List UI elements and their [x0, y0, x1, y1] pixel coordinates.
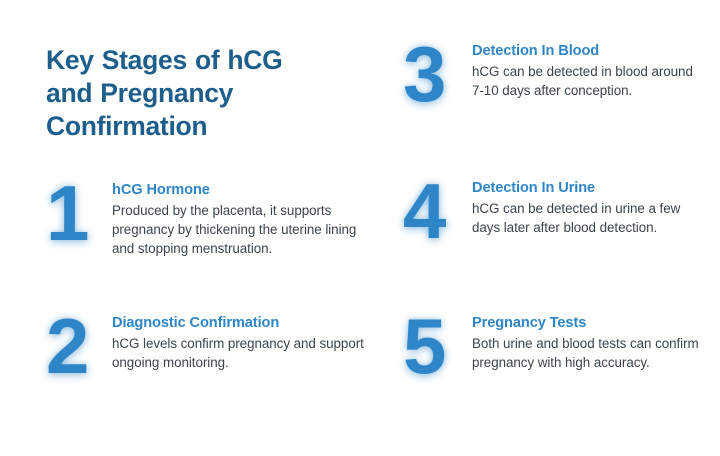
stage-heading-1: hCG Hormone — [112, 181, 378, 199]
stage-body-4: Detection In Urine hCG can be detected i… — [472, 178, 703, 237]
stage-item-4: 4 Detection In Urine hCG can be detected… — [403, 178, 703, 250]
stage-heading-5: Pregnancy Tests — [472, 314, 703, 332]
stage-heading-4: Detection In Urine — [472, 179, 703, 197]
stage-body-1: hCG Hormone Produced by the placenta, it… — [112, 180, 378, 259]
stage-item-1: 1 hCG Hormone Produced by the placenta, … — [46, 180, 378, 259]
stage-body-2: Diagnostic Confirmation hCG levels confi… — [112, 313, 378, 372]
stage-heading-3: Detection In Blood — [472, 42, 703, 60]
page-title-text: Key Stages of hCGand PregnancyConfirmati… — [46, 44, 366, 143]
stage-body-5: Pregnancy Tests Both urine and blood tes… — [472, 313, 703, 372]
stage-item-3: 3 Detection In Blood hCG can be detected… — [403, 41, 703, 113]
stage-number-4: 4 — [403, 172, 472, 250]
stage-item-5: 5 Pregnancy Tests Both urine and blood t… — [403, 313, 703, 385]
stage-body-3: Detection In Blood hCG can be detected i… — [472, 41, 703, 100]
stage-text-1: Produced by the placenta, it supports pr… — [112, 201, 378, 259]
stage-text-4: hCG can be detected in urine a few days … — [472, 199, 703, 237]
stage-text-3: hCG can be detected in blood around 7-10… — [472, 62, 703, 100]
page-title-line-3: Confirmation — [46, 111, 207, 141]
stage-text-2: hCG levels confirm pregnancy and support… — [112, 334, 378, 372]
infographic-canvas: Key Stages of hCGand PregnancyConfirmati… — [0, 0, 720, 456]
stage-number-1: 1 — [46, 174, 112, 252]
stage-text-5: Both urine and blood tests can confirm p… — [472, 334, 703, 372]
stage-number-5: 5 — [403, 307, 472, 385]
stage-number-3: 3 — [403, 35, 472, 113]
stage-item-2: 2 Diagnostic Confirmation hCG levels con… — [46, 313, 378, 385]
page-title-line-2: and Pregnancy — [46, 78, 233, 108]
page-title-line-1: Key Stages of hCG — [46, 45, 282, 75]
stage-number-2: 2 — [46, 307, 112, 385]
page-title: Key Stages of hCGand PregnancyConfirmati… — [46, 44, 366, 143]
stage-heading-2: Diagnostic Confirmation — [112, 314, 378, 332]
